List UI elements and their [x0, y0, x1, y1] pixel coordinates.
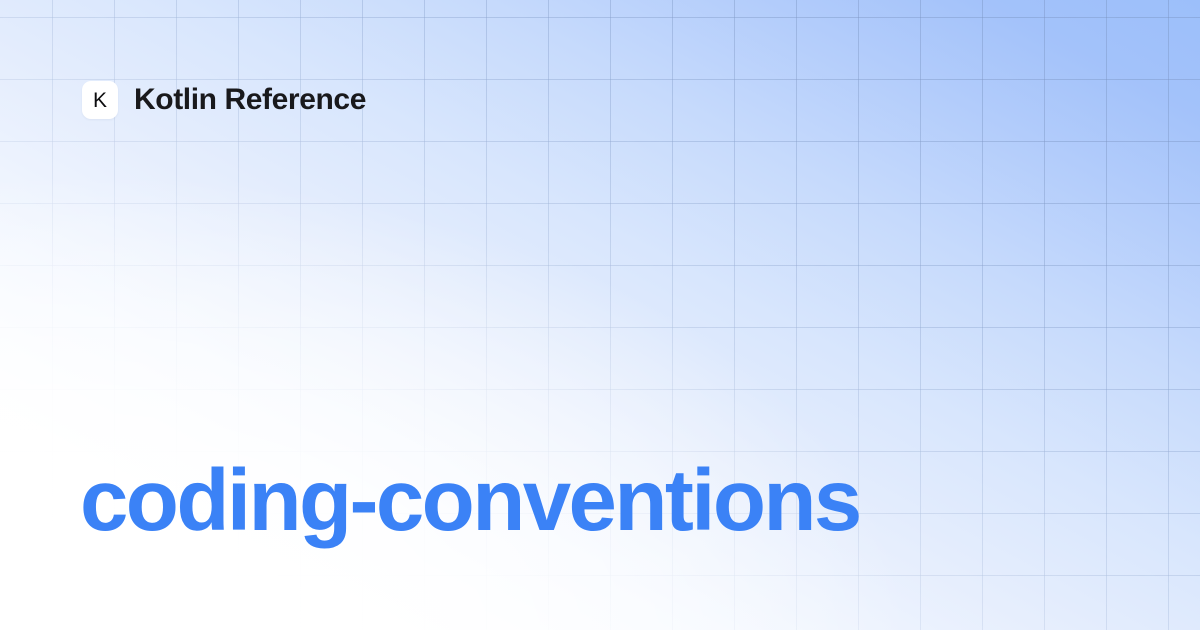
- header: K Kotlin Reference: [82, 81, 366, 119]
- kotlin-k-logo-icon: K: [82, 81, 118, 119]
- og-card: K Kotlin Reference coding-conventions: [0, 0, 1200, 630]
- logo-letter: K: [93, 90, 107, 111]
- site-title: Kotlin Reference: [134, 85, 366, 115]
- page-title: coding-conventions: [80, 455, 860, 546]
